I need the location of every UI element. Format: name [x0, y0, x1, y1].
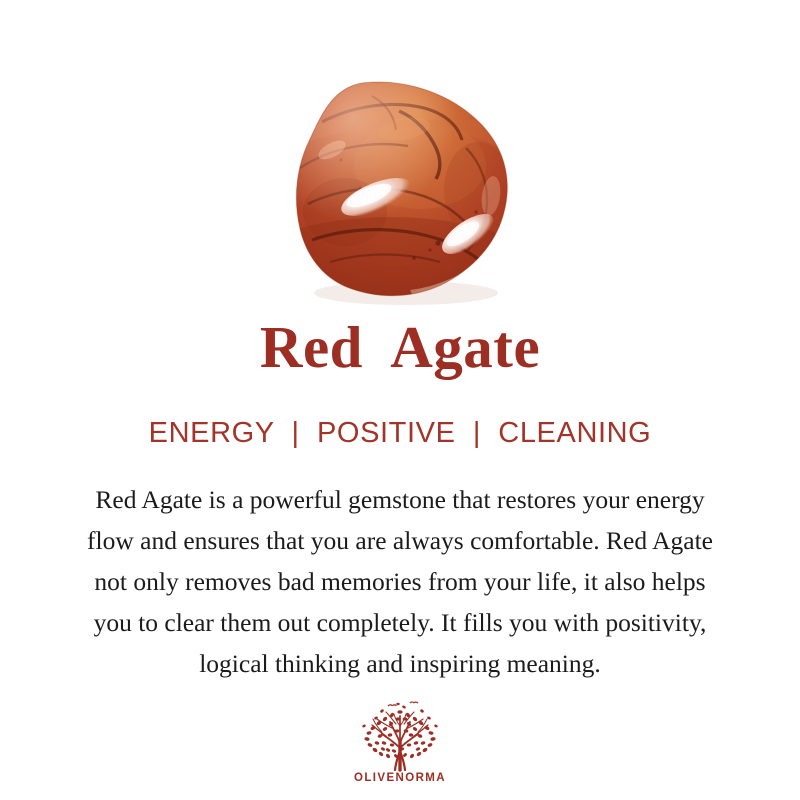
description-line: not only removes bad memories from your …	[15, 561, 785, 602]
description-line: Red Agate is a powerful gemstone that re…	[15, 479, 785, 520]
product-image-area	[0, 0, 800, 318]
product-info-card: Red Agate ENERGY | POSITIVE | CLEANING R…	[0, 0, 800, 800]
product-description: Red Agate is a powerful gemstone that re…	[15, 479, 785, 684]
description-line: flow and ensures that you are always com…	[15, 520, 785, 561]
page-title: Red Agate	[260, 318, 540, 377]
description-line: logical thinking and inspiring meaning.	[15, 643, 785, 684]
description-line: you to clear them out completely. It fil…	[15, 602, 785, 643]
tree-icon	[352, 698, 448, 772]
red-agate-stone-image	[0, 0, 800, 318]
stone-body	[280, 60, 540, 318]
brand-logo: OLIVENORMA	[352, 698, 448, 785]
keyword-tagline: ENERGY | POSITIVE | CLEANING	[149, 419, 652, 448]
brand-name: OLIVENORMA	[354, 773, 446, 785]
